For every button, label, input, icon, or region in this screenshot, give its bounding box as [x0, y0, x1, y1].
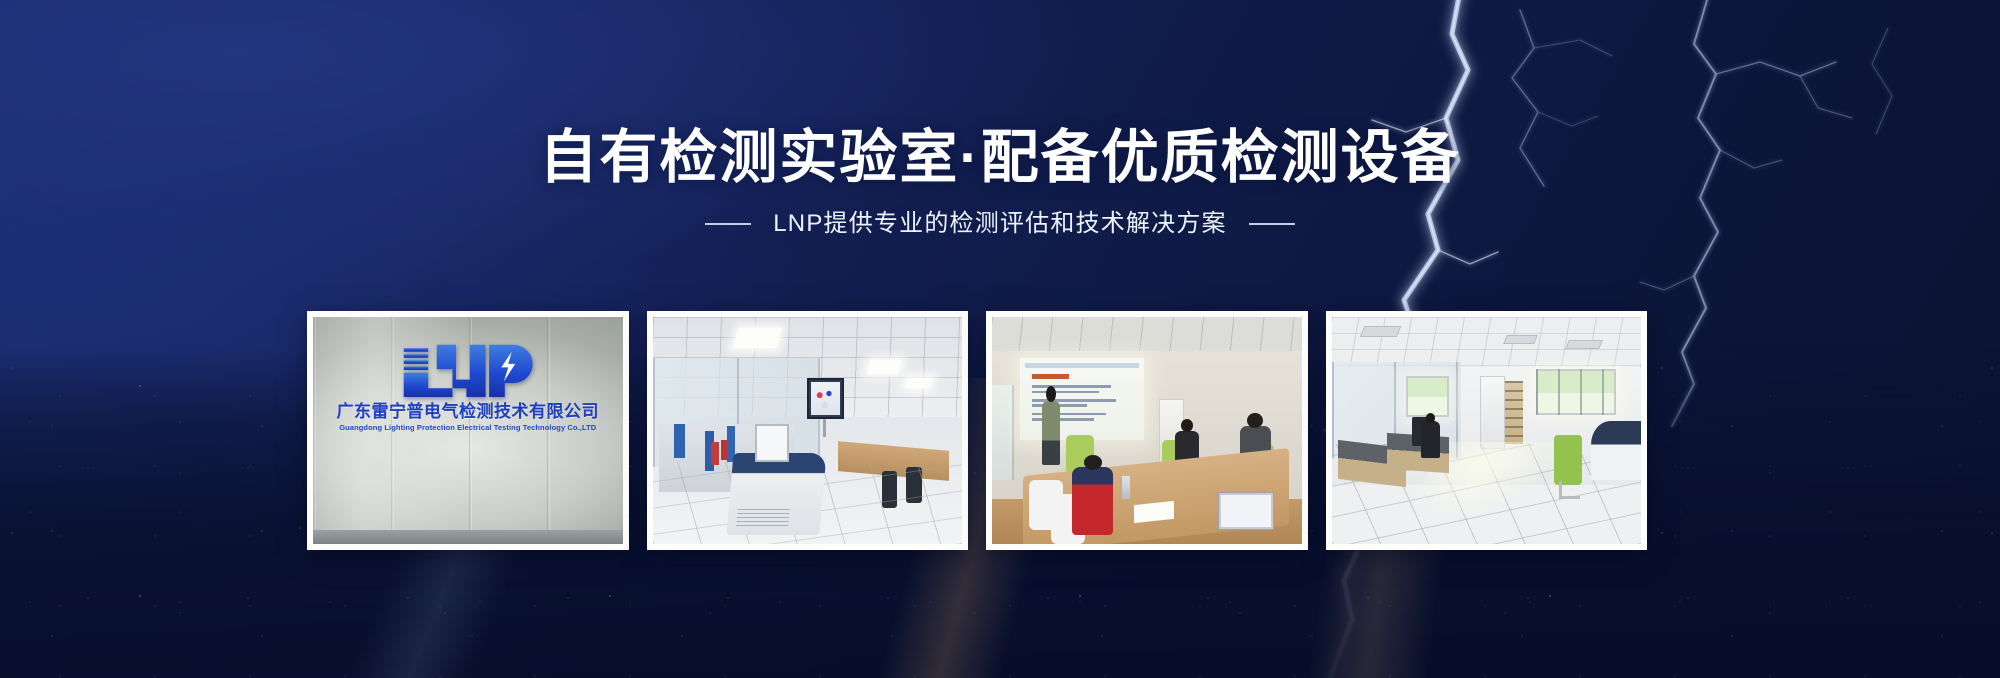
- meeting-room-ceiling: [992, 317, 1302, 351]
- ceiling-light-panel: [867, 360, 902, 374]
- gallery-photo-meeting-room[interactable]: [986, 311, 1308, 550]
- wall-baseboard: [313, 530, 623, 544]
- ceiling-vent: [1360, 326, 1402, 337]
- tv-mount: [823, 419, 826, 437]
- banner-subtitle-row: LNP提供专业的检测评估和技术解决方案: [0, 208, 2000, 240]
- company-name-cn: 广东雷宁普电气检测技术有限公司: [313, 402, 623, 422]
- control-console: [726, 453, 826, 535]
- ceiling-light-panel: [905, 378, 933, 388]
- decorative-rule-right: [1249, 223, 1295, 225]
- decorative-rule-left: [705, 223, 751, 225]
- slide-heading: [1032, 374, 1069, 379]
- person-in-red-jacket: [1072, 467, 1112, 535]
- banner-heading-block: 自有检测实验室·配备优质检测设备 LNP提供专业的检测评估和技术解决方案: [0, 122, 2000, 240]
- ceiling-vent: [1503, 335, 1538, 344]
- slide-text-line: [1032, 391, 1099, 394]
- red-insulator: [711, 442, 718, 465]
- laboratory-image: [653, 317, 963, 544]
- gallery-photo-company-sign[interactable]: 广东雷宁普电气检测技术有限公司 Guangdong Lighting Prote…: [307, 311, 629, 550]
- green-office-chair: [1554, 435, 1582, 485]
- ceiling-light-panel: [733, 328, 782, 348]
- company-sign-image: 广东雷宁普电气检测技术有限公司 Guangdong Lighting Prote…: [313, 317, 623, 544]
- slide-text-line: [1032, 385, 1111, 388]
- console-monitor: [755, 424, 789, 463]
- window-bars: [1536, 369, 1616, 414]
- glass-door: [992, 385, 1014, 480]
- lnp-logo-icon: [313, 343, 623, 397]
- company-signage: 广东雷宁普电气检测技术有限公司 Guangdong Lighting Prote…: [313, 343, 623, 433]
- office-image: [1332, 317, 1642, 544]
- laptop: [1218, 492, 1274, 531]
- storage-cabinet: [1480, 376, 1505, 449]
- seated-worker: [1421, 421, 1440, 457]
- banner-subtitle: LNP提供专业的检测评估和技术解决方案: [773, 208, 1227, 240]
- wall-mounted-tv: [807, 378, 844, 419]
- gallery-photo-office[interactable]: [1326, 311, 1648, 550]
- bookshelf: [1505, 381, 1524, 445]
- company-name-en: Guangdong Lighting Protection Electrical…: [313, 422, 623, 433]
- banner-title: 自有检测实验室·配备优质检测设备: [0, 122, 2000, 194]
- red-insulator: [721, 440, 727, 460]
- photo-gallery-strip: 广东雷宁普电气检测技术有限公司 Guangdong Lighting Prote…: [307, 311, 1647, 550]
- ceiling-vent: [1565, 340, 1603, 349]
- projection-screen: [1020, 358, 1144, 440]
- thermos-cup: [1122, 476, 1130, 499]
- console-vents: [736, 509, 790, 527]
- presenter-person: [1042, 401, 1061, 465]
- gallery-photo-laboratory[interactable]: [647, 311, 969, 550]
- meeting-room-image: [992, 317, 1302, 544]
- blue-test-apparatus: [674, 424, 685, 458]
- window: [1406, 376, 1449, 417]
- hero-banner: 自有检测实验室·配备优质检测设备 LNP提供专业的检测评估和技术解决方案: [0, 0, 2000, 678]
- reception-counter: [1591, 421, 1641, 480]
- slide-titlebar: [1025, 363, 1139, 369]
